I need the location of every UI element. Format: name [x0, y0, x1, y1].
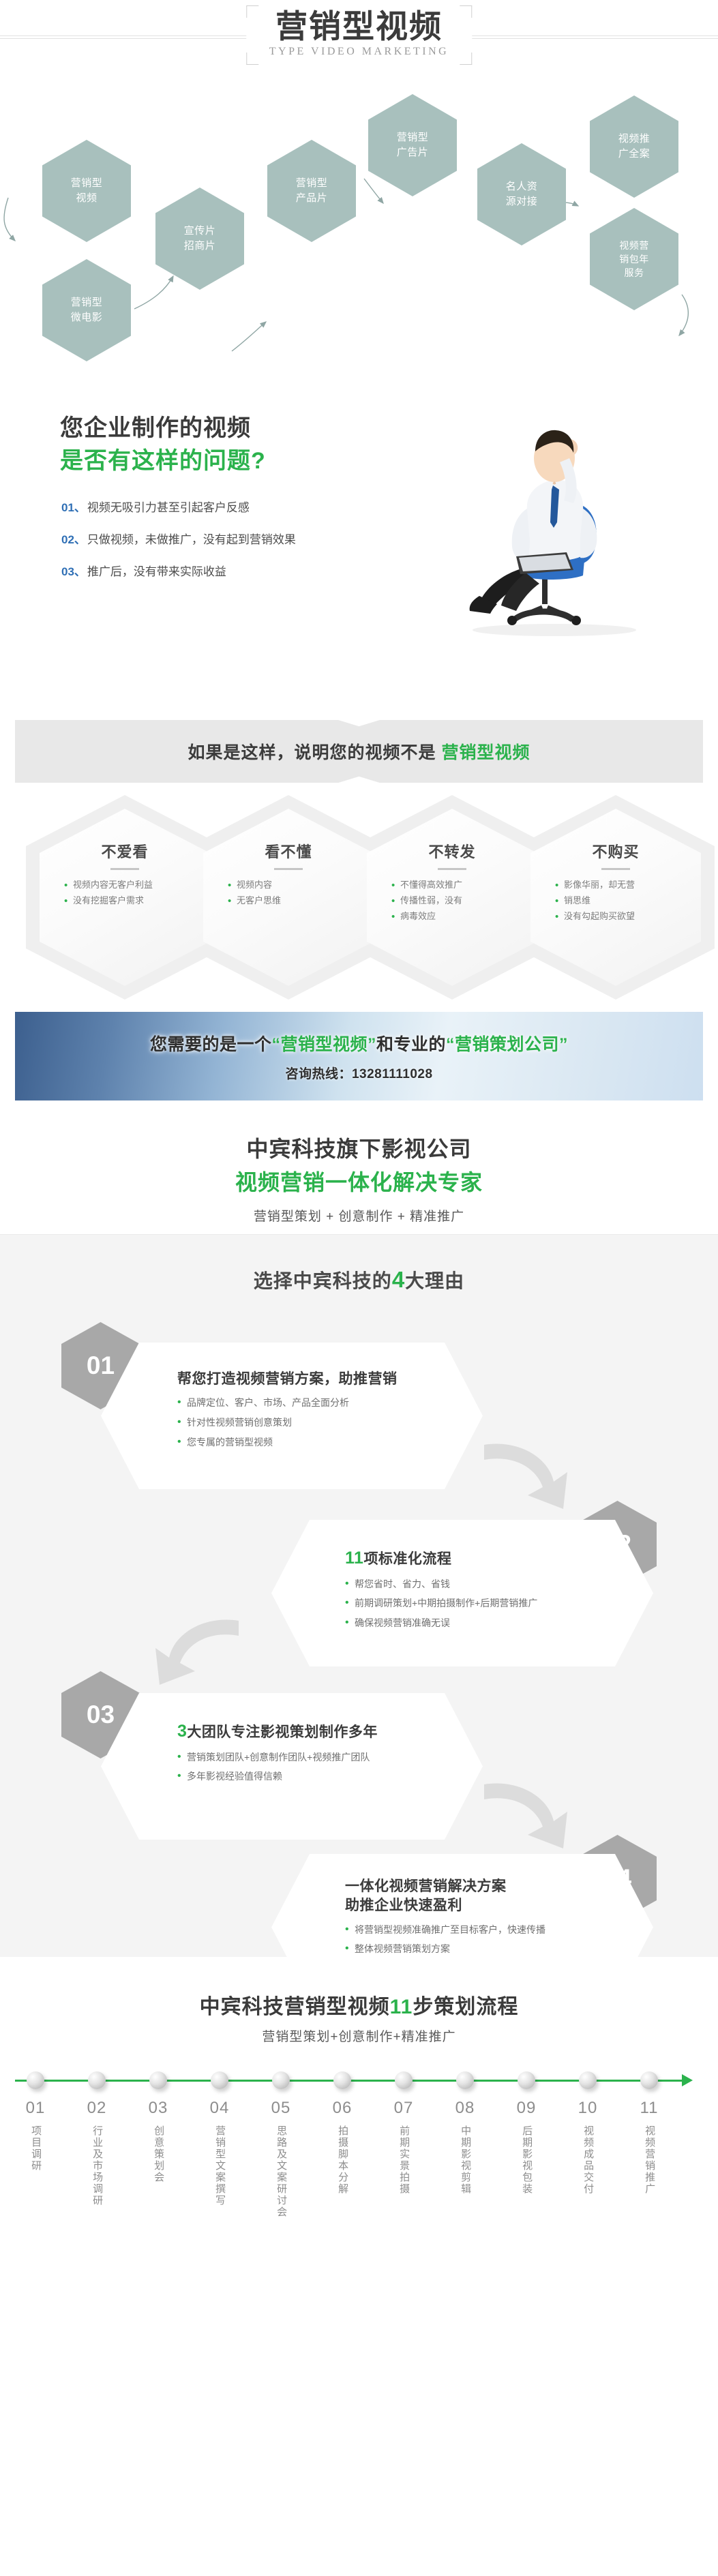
reason-card-02[interactable]: 11项标准化流程 帮您省时、省力、省钱 前期调研策划+中期拍摄制作+后期营销推广… — [271, 1520, 653, 1666]
hex-promo-film[interactable]: 宣传片招商片 — [155, 188, 244, 290]
hex-card-bullets: 影像华丽，却无营 销思维 没有勾起购买欲望 — [555, 878, 676, 924]
list-item: 营销策划团队+创意制作团队+视频推广团队 — [177, 1748, 483, 1767]
page-title: 营销型视频 — [269, 10, 449, 44]
cta-hotline[interactable]: 咨询热线：13281111028 — [285, 1064, 432, 1082]
list-item: 不懂得高效推广 — [391, 878, 513, 893]
conclusion-ribbon: 如果是这样，说明您的视频不是 营销型视频 — [15, 720, 703, 783]
reason-card-heading: 一体化视频营销解决方案 助推企业快速盈利 — [345, 1877, 653, 1916]
timeline-step-09[interactable]: 09 后期影视包装 — [496, 2059, 556, 2198]
list-item: 针对性视频营销创意策划 — [177, 1413, 483, 1433]
page-subtitle: TYPE VIDEO MARKETING — [269, 46, 449, 58]
list-item: 传播性弱，没有 — [391, 893, 513, 909]
four-problems-section: 不爱看 视频内容无客户利益 没有挖掘客户需求 看不懂 视频内容 无客户思维 不转… — [0, 798, 718, 1002]
timeline-step-04[interactable]: 04 营销型文案撰写 — [190, 2059, 250, 2210]
flow-timeline-section: 中宾科技营销型视频11步策划流程 营销型策划+创意制作+精准推广 01 项目调研… — [0, 1957, 718, 2271]
reasons-title: 选择中宾科技的4大理由 — [0, 1235, 718, 1293]
timeline-dot-icon — [272, 2071, 290, 2089]
timeline-step-label: 视频营销推广 — [641, 2125, 657, 2195]
timeline-step-label: 创意策划会 — [150, 2125, 166, 2183]
timeline-step-11[interactable]: 11 视频营销推广 — [619, 2059, 679, 2198]
list-item: 01、视频无吸引力甚至引起客户反感 — [61, 498, 296, 515]
ribbon-text-highlight: 营销型视频 — [441, 743, 530, 762]
problem-index: 03、 — [61, 565, 86, 578]
timeline-dot-icon — [579, 2071, 597, 2089]
flow-subtitle: 营销型策划+创意制作+精准推广 — [0, 2026, 718, 2045]
hex-card-bullets: 视频内容 无客户思维 — [228, 878, 349, 909]
reason-card-bullets: 营销策划团队+创意制作团队+视频推广团队 多年影视经验值得信赖 — [177, 1748, 483, 1786]
divider — [274, 868, 303, 870]
hex-marketing-video[interactable]: 营销型视频 — [42, 140, 131, 242]
flow-title-b: 步策划流程 — [413, 1996, 518, 2018]
timeline-step-number: 07 — [374, 2099, 434, 2118]
reason-card-01[interactable]: 帮您打造视频营销方案，助推营销 品牌定位、客户、市场、产品全面分析 针对性视频营… — [101, 1343, 483, 1489]
timeline-step-06[interactable]: 06 拍摄脚本分解 — [312, 2059, 372, 2198]
cta-headline: 您需要的是一个“营销型视频”和专业的“营销策划公司” — [150, 1031, 568, 1055]
reasons-section: 选择中宾科技的4大理由 01 帮您打造视频营销方案，助推营销 品牌定位、客户、市… — [0, 1234, 718, 1957]
company-intro-section: 中宾科技旗下影视公司 视频营销一体化解决专家 营销型策划 + 创意制作 + 精准… — [0, 1111, 718, 1234]
flow-arrow-down-right-icon-2 — [477, 1772, 580, 1854]
reason-card-bullets: 帮您省时、省力、省钱 前期调研策划+中期拍摄制作+后期营销推广 确保视频营销准确… — [345, 1574, 653, 1633]
reason-card-heading-number: 11 — [345, 1548, 363, 1568]
hex-card-bullets: 视频内容无客户利益 没有挖掘客户需求 — [64, 878, 185, 909]
hex-card-title: 不转发 — [428, 840, 475, 862]
flow-arrow-down-left-icon — [143, 1608, 245, 1690]
timeline-step-03[interactable]: 03 创意策划会 — [128, 2059, 188, 2187]
cta-banner[interactable]: 您需要的是一个“营销型视频”和专业的“营销策划公司” 咨询热线：13281111… — [15, 1012, 703, 1100]
problem-heading-line2: 是否有这样的问题? — [60, 442, 266, 475]
list-item: 影像华丽，却无营 — [555, 878, 676, 893]
list-item: 无客户思维 — [228, 893, 349, 909]
list-item: 帮您省时、省力、省钱 — [345, 1574, 653, 1594]
timeline-step-label: 前期实景拍摄 — [395, 2125, 412, 2195]
divider — [438, 868, 466, 870]
bracket-top-right-icon — [460, 5, 472, 18]
timeline-dot-icon — [88, 2071, 106, 2089]
timeline-dot-icon — [395, 2071, 413, 2089]
hex-card-title: 看不懂 — [265, 840, 312, 862]
reason-card-heading: 帮您打造视频营销方案，助推营销 — [177, 1370, 483, 1389]
timeline-step-05[interactable]: 05 思路及文案研讨会 — [251, 2059, 311, 2221]
ribbon-text-plain: 如果是这样，说明您的视频不是 — [188, 743, 442, 762]
hex-micro-movie[interactable]: 营销型微电影 — [42, 259, 131, 361]
timeline-step-label: 中期影视剪辑 — [457, 2125, 473, 2195]
hex-celebrity-resource[interactable]: 名人资源对接 — [477, 143, 566, 245]
timeline-step-10[interactable]: 10 视频成品交付 — [558, 2059, 618, 2198]
timeline-dot-icon — [149, 2071, 167, 2089]
hex-promotion-plan[interactable]: 视频推广全案 — [590, 95, 678, 198]
timeline-dot-icon — [333, 2071, 351, 2089]
reason-card-heading-text: 项标准化流程 — [363, 1551, 451, 1567]
timeline-dot-icon — [211, 2071, 228, 2089]
reason-card-heading-text: 大团队专注影视策划制作多年 — [187, 1724, 378, 1740]
flow-title-a: 中宾科技营销型视频 — [200, 1996, 390, 2018]
reason-card-heading-number: 3 — [177, 1722, 187, 1741]
service-hexagon-cluster: 营销型视频 宣传片招商片 营销型微电影 营销型产品片 营销型广告片 名人资源对接… — [0, 82, 718, 389]
hex-label: 视频推广全案 — [618, 132, 650, 162]
cta-quote-2: “营销策划公司” — [446, 1035, 568, 1054]
reason-card-heading: 11项标准化流程 — [345, 1547, 653, 1570]
hex-label: 营销型视频 — [71, 176, 103, 206]
timeline-dot-icon — [518, 2071, 535, 2089]
businessman-thinking-photo — [440, 401, 665, 636]
timeline-dot-icon — [640, 2071, 658, 2089]
hex-annual-service[interactable]: 视频营销包年服务 — [590, 208, 678, 310]
timeline-step-label: 视频成品交付 — [580, 2125, 596, 2195]
list-item-cont: 销思维 — [555, 893, 676, 909]
cta-quote-1: “营销型视频” — [271, 1035, 376, 1054]
hex-label: 营销型广告片 — [397, 130, 429, 160]
hex-card-title: 不购买 — [592, 840, 639, 862]
problem-index: 02、 — [61, 533, 86, 546]
timeline-step-label: 思路及文案研讨会 — [273, 2125, 289, 2218]
bracket-top-left-icon — [246, 5, 258, 18]
hex-card-bullets: 不懂得高效推广 传播性弱，没有 病毒效应 — [391, 878, 513, 924]
ribbon-text: 如果是这样，说明您的视频不是 营销型视频 — [188, 739, 530, 764]
list-item: 将营销型视频准确推广至目标客户，快速传播 — [345, 1920, 653, 1940]
reason-card-bullets: 将营销型视频准确推广至目标客户，快速传播 整体视频营销策划方案 — [345, 1920, 653, 1959]
timeline: 01 项目调研 02 行业及市场调研 03 创意策划会 04 营销型文案撰写 0… — [0, 2059, 718, 2264]
timeline-step-label: 营销型文案撰写 — [211, 2125, 228, 2206]
conclusion-ribbon-section: 如果是这样，说明您的视频不是 营销型视频 — [0, 709, 718, 798]
divider — [110, 868, 139, 870]
timeline-step-07[interactable]: 07 前期实景拍摄 — [374, 2059, 434, 2198]
list-item: 您专属的营销型视频 — [177, 1433, 483, 1452]
hex-label: 营销型微电影 — [71, 295, 103, 325]
divider — [601, 868, 630, 870]
problem-index: 01、 — [61, 501, 86, 514]
hex-label: 视频营销包年服务 — [619, 239, 649, 280]
list-item: 整体视频营销策划方案 — [345, 1939, 653, 1959]
hex-label: 宣传片招商片 — [184, 224, 216, 254]
timeline-step-01[interactable]: 01 项目调研 — [5, 2059, 65, 2175]
list-item: 确保视频营销准确无误 — [345, 1613, 653, 1633]
timeline-step-number: 09 — [496, 2099, 556, 2118]
reasons-title-b: 大理由 — [405, 1270, 464, 1291]
timeline-step-number: 05 — [251, 2099, 311, 2118]
timeline-step-number: 10 — [558, 2099, 618, 2118]
timeline-step-number: 02 — [67, 2099, 127, 2118]
flow-title: 中宾科技营销型视频11步策划流程 — [0, 1957, 718, 2020]
list-item: 没有勾起购买欲望 — [555, 909, 676, 925]
list-item: 视频内容 — [228, 878, 349, 893]
hex-card-title: 不爱看 — [101, 840, 148, 862]
list-item-cont: 病毒效应 — [391, 909, 513, 925]
problem-text: 推广后，没有带来实际收益 — [87, 565, 226, 578]
header-title-box: 营销型视频 TYPE VIDEO MARKETING — [246, 5, 472, 65]
list-item: 没有挖掘客户需求 — [64, 893, 185, 909]
reason-card-heading: 3大团队专注影视策划制作多年 — [177, 1720, 483, 1743]
timeline-step-label: 行业及市场调研 — [89, 2125, 105, 2206]
hex-label: 营销型产品片 — [296, 176, 328, 206]
timeline-step-number: 08 — [435, 2099, 495, 2118]
list-item: 视频内容无客户利益 — [64, 878, 185, 893]
timeline-step-02[interactable]: 02 行业及市场调研 — [67, 2059, 127, 2210]
bracket-bottom-right-icon — [460, 53, 472, 65]
page-header: 营销型视频 TYPE VIDEO MARKETING — [0, 0, 718, 82]
timeline-dot-icon — [27, 2071, 44, 2089]
list-item: 02、只做视频，未做推广，没有起到营销效果 — [61, 530, 296, 547]
flow-title-number: 11 — [390, 1996, 413, 2018]
hex-product-film[interactable]: 营销型产品片 — [267, 140, 356, 242]
problem-heading-line1: 您企业制作的视频 — [60, 409, 251, 443]
hex-ad-film[interactable]: 营销型广告片 — [368, 94, 457, 196]
timeline-arrow-icon — [682, 2074, 693, 2086]
list-item: 多年影视经验值得信赖 — [177, 1767, 483, 1786]
company-services: 营销型策划 + 创意制作 + 精准推广 — [0, 1206, 718, 1225]
problem-list: 01、视频无吸引力甚至引起客户反感 02、只做视频，未做推广，没有起到营销效果 … — [61, 498, 296, 594]
reasons-title-a: 选择中宾科技的 — [254, 1270, 392, 1291]
timeline-step-label: 后期影视包装 — [518, 2125, 535, 2195]
timeline-step-number: 01 — [5, 2099, 65, 2118]
problem-text: 视频无吸引力甚至引起客户反感 — [87, 501, 250, 514]
timeline-step-number: 11 — [619, 2099, 679, 2118]
flow-arrow-down-right-icon — [477, 1433, 580, 1514]
badge-number: 01 — [87, 1351, 115, 1380]
list-item: 前期调研策划+中期拍摄制作+后期营销推广 — [345, 1593, 653, 1613]
reasons-title-number: 4 — [392, 1267, 405, 1292]
reason-card-03[interactable]: 3大团队专注影视策划制作多年 营销策划团队+创意制作团队+视频推广团队 多年影视… — [101, 1693, 483, 1840]
cta-part-a: 您需要的是一个 — [150, 1035, 272, 1054]
timeline-step-label: 项目调研 — [27, 2125, 44, 2172]
timeline-step-number: 04 — [190, 2099, 250, 2118]
timeline-step-number: 03 — [128, 2099, 188, 2118]
list-item: 品牌定位、客户、市场、产品全面分析 — [177, 1393, 483, 1413]
list-item: 03、推广后，没有带来实际收益 — [61, 562, 296, 579]
company-name: 中宾科技旗下影视公司 — [0, 1132, 718, 1163]
company-tagline: 视频营销一体化解决专家 — [0, 1165, 718, 1197]
problem-text: 只做视频，未做推广，没有起到营销效果 — [87, 533, 296, 546]
badge-number: 03 — [87, 1701, 115, 1729]
timeline-dot-icon — [456, 2071, 474, 2089]
reason-card-bullets: 品牌定位、客户、市场、产品全面分析 针对性视频营销创意策划 您专属的营销型视频 — [177, 1393, 483, 1452]
timeline-step-number: 06 — [312, 2099, 372, 2118]
cta-section: 您需要的是一个“营销型视频”和专业的“营销策划公司” 咨询热线：13281111… — [0, 1002, 718, 1111]
cta-part-b: 和专业的 — [376, 1035, 446, 1054]
timeline-step-08[interactable]: 08 中期影视剪辑 — [435, 2059, 495, 2198]
timeline-step-label: 拍摄脚本分解 — [334, 2125, 350, 2195]
hex-label: 名人资源对接 — [506, 179, 538, 209]
problem-section: 您企业制作的视频 是否有这样的问题? 01、视频无吸引力甚至引起客户反感 02、… — [0, 389, 718, 709]
bracket-bottom-left-icon — [246, 53, 258, 65]
